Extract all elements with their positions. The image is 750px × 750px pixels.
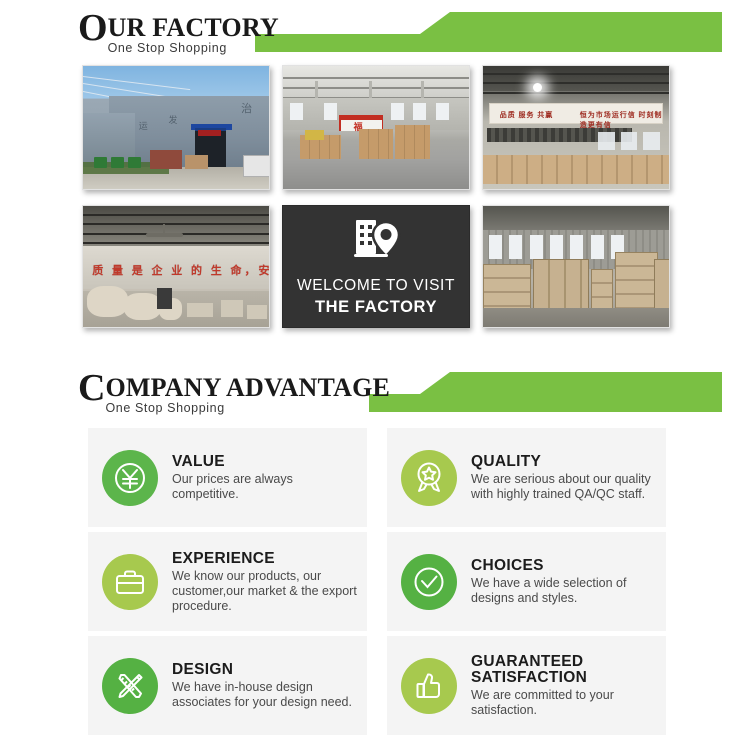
- advantage-title-value: VALUE: [172, 453, 357, 470]
- advantage-title-experience: EXPERIENCE: [172, 550, 357, 567]
- workshop-slogan-image: 质 量 是 企 业 的 生 命，安 全 是 职 工 的 生 命: [83, 206, 269, 327]
- welcome-line-2: THE FACTORY: [315, 298, 437, 317]
- building-location-pin-icon: [350, 216, 402, 267]
- advantage-desc-guaranteed-satisfaction: We are committed to your satisfaction.: [471, 688, 656, 718]
- section-subtitle-1: One Stop Shopping: [104, 41, 249, 55]
- section-dropcap-1: O: [78, 10, 107, 46]
- warehouse-banner-image: 品质 服务 共赢 恒为市场运行信 时刻制造更有信: [483, 66, 669, 189]
- advantage-text-design: DESIGN We have in-house design associate…: [172, 661, 357, 710]
- welcome-to-visit-tile[interactable]: WELCOME TO VISIT THE FACTORY: [282, 205, 470, 328]
- advantage-desc-value: Our prices are always competitive.: [172, 472, 357, 502]
- advantage-title-design: DESIGN: [172, 661, 357, 678]
- advantage-title-quality: QUALITY: [471, 453, 656, 470]
- advantage-card-experience[interactable]: EXPERIENCE We know our products, our cus…: [88, 532, 367, 631]
- section-dropcap-2: C: [78, 370, 104, 406]
- wooden-crates-image: [483, 206, 669, 327]
- advantage-desc-design: We have in-house design associates for y…: [172, 680, 357, 710]
- page-root: O UR FACTORY One Stop Shopping OEM&ODM 治…: [0, 0, 750, 750]
- advantage-card-design[interactable]: DESIGN We have in-house design associate…: [88, 636, 367, 735]
- advantage-card-guaranteed-satisfaction[interactable]: GUARANTEED SATISFACTION We are committed…: [387, 636, 666, 735]
- factory-photo-grid: 治 发 运: [82, 65, 670, 328]
- photo3-banner-left-text: 品质 服务 共赢: [500, 110, 554, 120]
- check-circle-icon: [401, 554, 457, 610]
- advantage-text-value: VALUE Our prices are always competitive.: [172, 453, 357, 502]
- warehouse-banner-photo[interactable]: 品质 服务 共赢 恒为市场运行信 时刻制造更有信: [482, 65, 670, 190]
- advantage-text-experience: EXPERIENCE We know our products, our cus…: [172, 550, 357, 614]
- warehouse-cartons-photo[interactable]: 福: [282, 65, 470, 190]
- photo4-slogan-text: 质 量 是 企 业 的 生 命，安 全 是 职 工 的 生 命: [92, 262, 269, 278]
- advantage-desc-experience: We know our products, our customer,our m…: [172, 569, 357, 614]
- workshop-slogan-photo[interactable]: 质 量 是 企 业 的 生 命，安 全 是 职 工 的 生 命: [82, 205, 270, 328]
- wooden-crates-photo[interactable]: [482, 205, 670, 328]
- advantage-title-choices: CHOICES: [471, 557, 656, 574]
- advantage-text-guaranteed-satisfaction: GUARANTEED SATISFACTION We are committed…: [471, 654, 656, 718]
- advantage-card-choices[interactable]: CHOICES We have a wide selection of desi…: [387, 532, 666, 631]
- factory-exterior-image: 治 发 运: [83, 66, 269, 189]
- advantage-text-quality: QUALITY We are serious about our quality…: [471, 453, 656, 502]
- section-title-block-2: C OMPANY ADVANTAGE One Stop Shopping: [78, 370, 369, 415]
- warehouse-cartons-image: 福: [283, 66, 469, 189]
- section-subtitle-2: One Stop Shopping: [104, 401, 363, 415]
- pencil-ruler-icon: [102, 658, 158, 714]
- award-ribbon-icon: [401, 450, 457, 506]
- advantage-text-choices: CHOICES We have a wide selection of desi…: [471, 557, 656, 606]
- advantage-desc-choices: We have a wide selection of designs and …: [471, 576, 656, 606]
- welcome-line-1: WELCOME TO VISIT: [297, 277, 455, 295]
- section-title-2: OMPANY ADVANTAGE: [78, 370, 363, 403]
- advantage-card-quality[interactable]: QUALITY We are serious about our quality…: [387, 428, 666, 527]
- yen-currency-icon: [102, 450, 158, 506]
- section-title-block-1: O UR FACTORY One Stop Shopping: [78, 10, 255, 55]
- advantage-desc-quality: We are serious about our quality with hi…: [471, 472, 656, 502]
- factory-exterior-photo[interactable]: 治 发 运: [82, 65, 270, 190]
- briefcase-icon: [102, 554, 158, 610]
- thumbs-up-icon: [401, 658, 457, 714]
- company-advantage-grid: VALUE Our prices are always competitive.…: [88, 428, 666, 735]
- advantage-card-value[interactable]: VALUE Our prices are always competitive.: [88, 428, 367, 527]
- advantage-title-guaranteed-satisfaction: GUARANTEED SATISFACTION: [471, 654, 656, 686]
